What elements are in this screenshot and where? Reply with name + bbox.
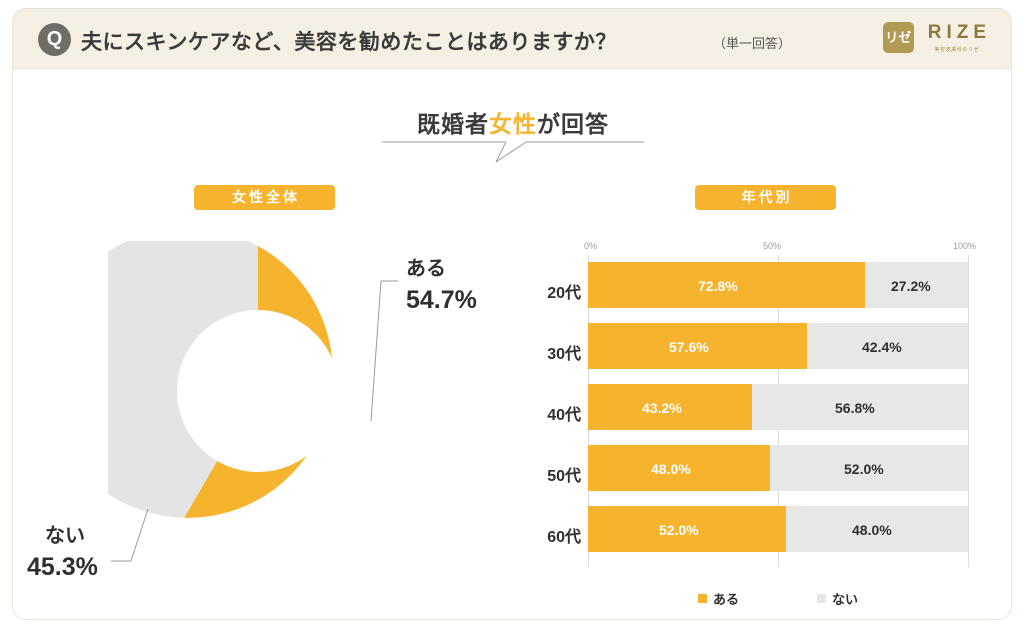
donut-label-aru-value: 54.7%: [406, 286, 477, 315]
question-title: 夫にスキンケアなど、美容を勧めたことはありますか？: [81, 26, 617, 56]
legend-item-aru: ある: [698, 589, 739, 608]
rize-logo-mark: リゼ: [883, 22, 914, 53]
legend-swatch-aru: [698, 594, 707, 603]
bar-value-yes-40: 43.2%: [642, 400, 682, 416]
legend-label-aru: ある: [713, 589, 739, 608]
bar-value-no-30: 42.4%: [862, 339, 902, 355]
bar-value-no-60: 48.0%: [852, 522, 892, 538]
legend-swatch-nai: [817, 594, 826, 603]
pill-label-by-age: 年代別: [695, 185, 836, 210]
question-header: Q 夫にスキンケアなど、美容を勧めたことはありますか？ （単一回答） リゼ RI…: [13, 9, 1012, 69]
gridline-100: [968, 255, 969, 567]
legend-item-nai: ない: [817, 589, 858, 608]
rize-logo: リゼ RIZE 美容皮膚科のリゼ: [883, 22, 991, 53]
bar-value-no-20: 27.2%: [891, 278, 931, 294]
section-title-post: が回答: [537, 111, 609, 137]
bar-value-yes-50: 48.0%: [651, 461, 691, 477]
x-tick-0: 0%: [584, 241, 597, 251]
section-title: 既婚者女性が回答: [13, 105, 1012, 139]
row-label-20: 20代: [533, 279, 581, 303]
question-note: （単一回答）: [713, 33, 791, 52]
infographic-card: Q 夫にスキンケアなど、美容を勧めたことはありますか？ （単一回答） リゼ RI…: [12, 8, 1012, 620]
rize-logo-name: RIZE: [923, 22, 991, 44]
legend-label-nai: ない: [832, 589, 858, 608]
row-label-40: 40代: [533, 401, 581, 425]
title-underline-decoration: [378, 135, 648, 169]
x-tick-100: 100%: [953, 241, 976, 251]
row-label-50: 50代: [533, 462, 581, 486]
donut-label-aru-name: ある: [406, 252, 477, 281]
donut-label-nai: ない 45.3%: [45, 519, 98, 582]
section-title-pre: 既婚者: [417, 111, 489, 137]
rize-logo-text: RIZE 美容皮膚科のリゼ: [923, 22, 991, 53]
bar-value-yes-30: 57.6%: [669, 339, 709, 355]
section-title-highlight: 女性: [489, 111, 537, 137]
bar-value-yes-20: 72.8%: [698, 278, 738, 294]
x-tick-50: 50%: [763, 241, 781, 251]
pill-label-overall: 女性全体: [194, 185, 335, 210]
donut-label-nai-value: 45.3%: [27, 553, 98, 582]
bar-chart-legend: ある ない: [573, 589, 983, 608]
donut-label-aru: ある 54.7%: [406, 252, 477, 315]
bar-value-no-40: 56.8%: [835, 400, 875, 416]
donut-label-nai-name: ない: [45, 519, 98, 548]
bar-value-yes-60: 52.0%: [659, 522, 699, 538]
rize-logo-tagline: 美容皮膚科のリゼ: [934, 46, 979, 53]
bar-value-no-50: 52.0%: [844, 461, 884, 477]
question-badge: Q: [38, 23, 71, 56]
row-label-60: 60代: [533, 523, 581, 547]
row-label-30: 30代: [533, 340, 581, 364]
donut-callout-lines: [93, 241, 453, 601]
